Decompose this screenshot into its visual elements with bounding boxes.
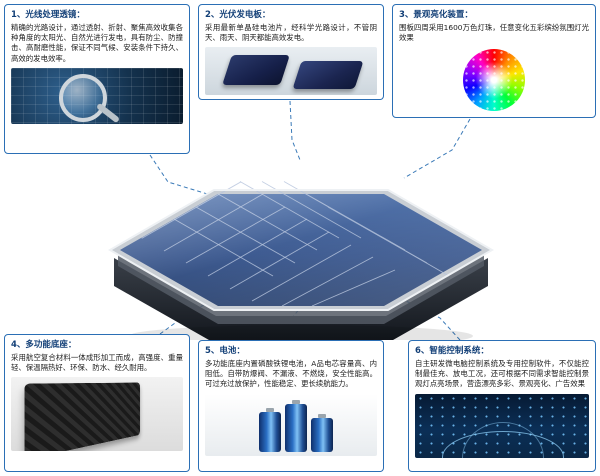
card-4-body: 采用航空复合材料一体成形加工而成，高强度、重量轻、保温隔热好、环保、防水、经久耐…	[11, 353, 183, 373]
card-6-title: 6、智能控制系统：	[415, 346, 589, 357]
card-1-title: 1、光线处理透镜：	[11, 10, 183, 21]
card-3-body: 围板四周采用1600万色灯珠，任意变化五彩缤纷氛围灯光效果	[399, 23, 589, 43]
card-5-title: 5、电池：	[205, 346, 377, 357]
card-2-body: 采用最新单晶硅电池片，经科学光路设计，不管阴天、雨天、阴天都能高效发电。	[205, 23, 377, 43]
callout-card-3: 3、景观亮化装置： 围板四周采用1600万色灯珠，任意变化五彩缤纷氛围灯光效果	[392, 4, 596, 118]
battery-cell-2	[285, 404, 307, 452]
lithium-battery-photo	[205, 394, 377, 456]
card-2-title: 2、光伏发电板：	[205, 10, 377, 21]
color-wheel-photo	[399, 47, 589, 113]
solar-cell-a	[222, 55, 290, 85]
callout-card-2: 2、光伏发电板： 采用最新单晶硅电池片，经科学光路设计，不管阴天、雨天、阴天都能…	[198, 4, 384, 100]
card-4-title: 4、多功能底座：	[11, 340, 183, 351]
callout-card-4: 4、多功能底座： 采用航空复合材料一体成形加工而成，高强度、重量轻、保温隔热好、…	[4, 334, 190, 472]
battery-cell-3	[311, 418, 333, 452]
lens-magnifier-photo	[11, 68, 183, 124]
carbon-fiber-shell	[25, 383, 140, 451]
solar-panel-illustration	[96, 140, 506, 340]
card-1-body: 精确的光路设计，通过透射、折射、聚焦高效收集各种角度的太阳光、自然光进行发电，具…	[11, 23, 183, 64]
smart-control-system-photo	[415, 394, 589, 458]
solar-cell-b	[292, 61, 363, 89]
magnifier-lens-icon	[59, 74, 107, 122]
diagram-stage: 1、光线处理透镜： 精确的光路设计，通过透射、折射、聚焦高效收集各种角度的太阳光…	[0, 0, 600, 476]
callout-card-6: 6、智能控制系统： 自主研发微电脑控制系统及专用控制软件，不仅能控制最佳充、放电…	[408, 340, 596, 472]
callout-card-5: 5、电池： 多功能底座内置磷酸铁锂电池，A品电芯容量高、内阻低。自带防爆阀、不漏…	[198, 340, 384, 472]
card-3-title: 3、景观亮化装置：	[399, 10, 589, 21]
solar-cell-photo	[205, 47, 377, 95]
battery-cell-1	[259, 412, 281, 452]
carbon-fiber-base-photo	[11, 377, 183, 451]
callout-card-1: 1、光线处理透镜： 精确的光路设计，通过透射、折射、聚焦高效收集各种角度的太阳光…	[4, 4, 190, 154]
card-5-body: 多功能底座内置磷酸铁锂电池，A品电芯容量高、内阻低。自带防爆阀、不漏液、不燃烧，…	[205, 359, 377, 390]
card-6-body: 自主研发微电脑控制系统及专用控制软件，不仅能控制最佳充、放电工况，还可根据不同需…	[415, 359, 589, 390]
color-wheel-icon	[463, 49, 525, 111]
